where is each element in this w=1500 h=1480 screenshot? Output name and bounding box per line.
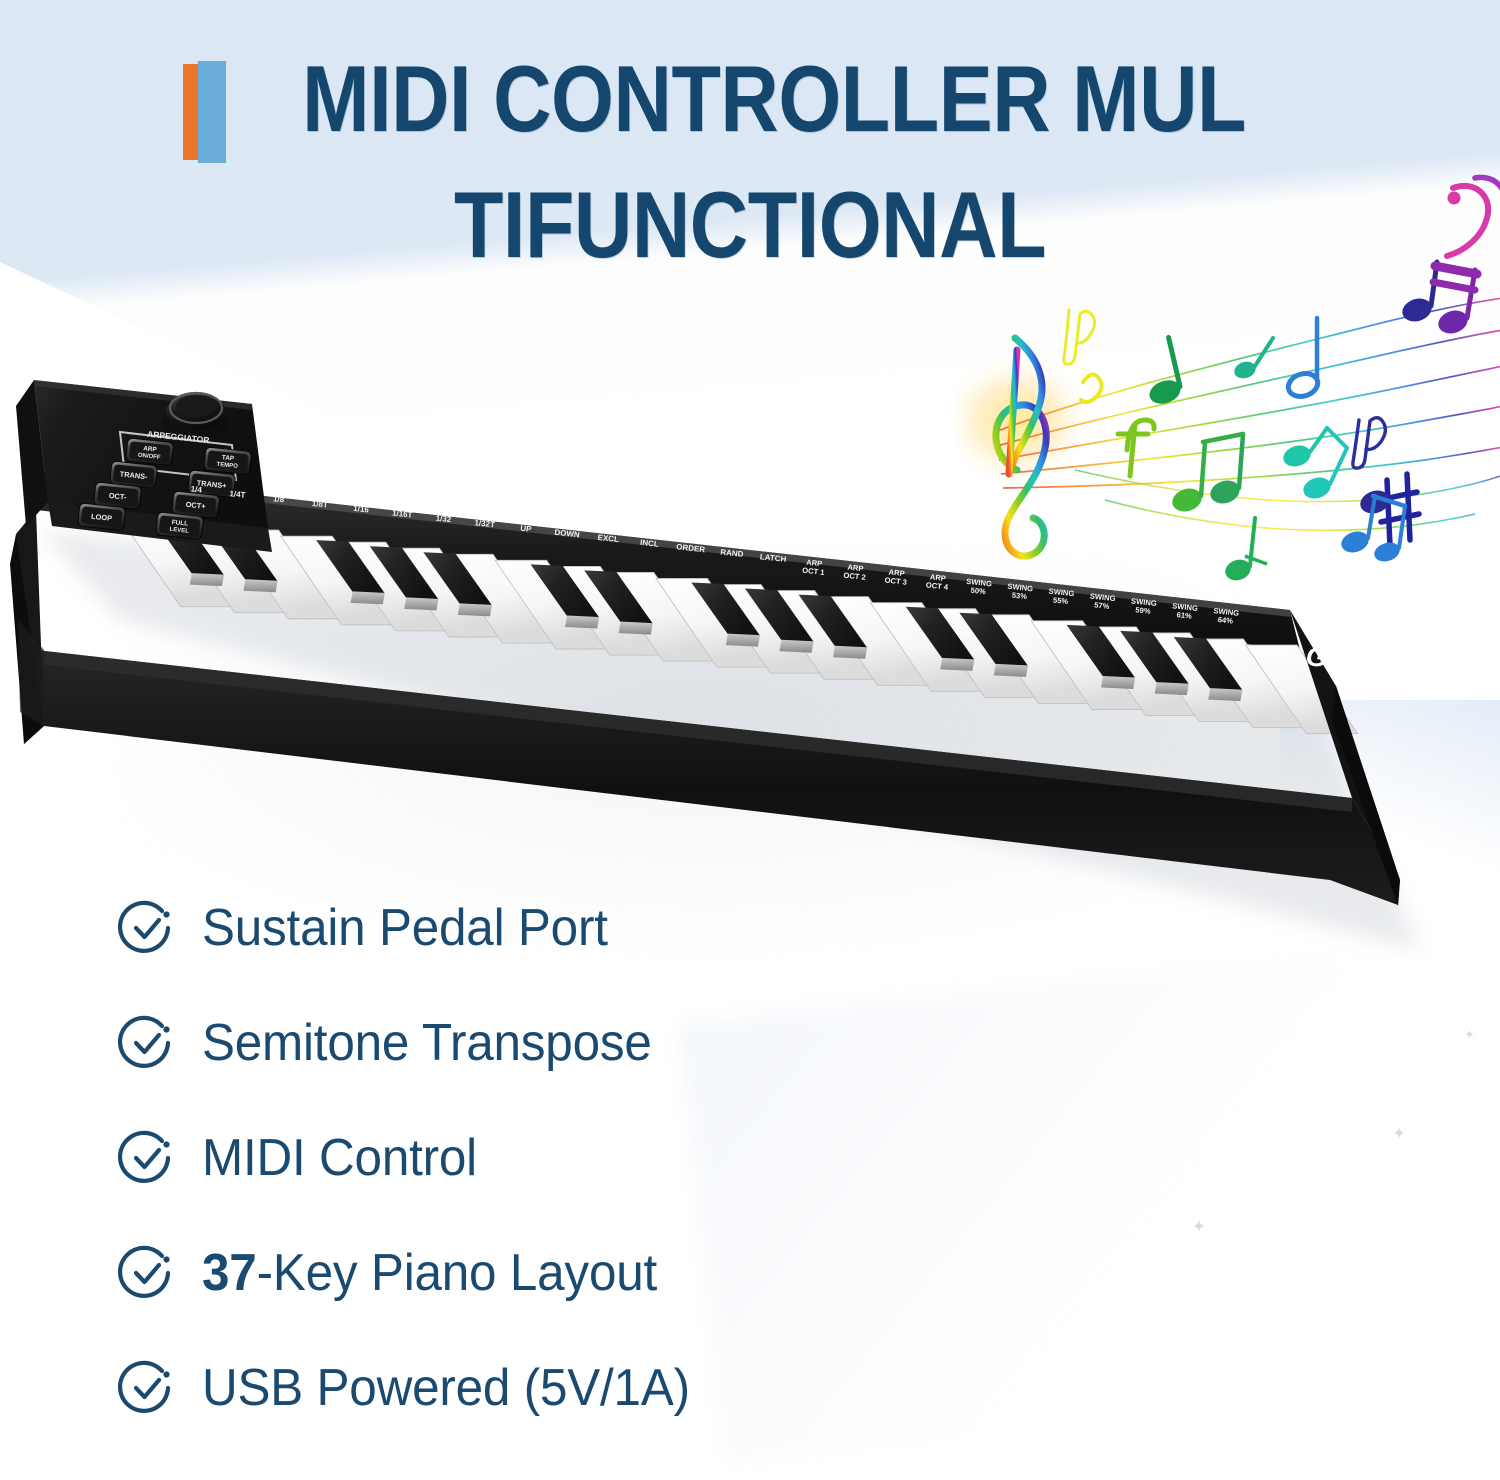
key-legend: 1/8 — [273, 494, 286, 504]
svg-text:TAP: TAP — [221, 454, 235, 462]
check-circle-icon — [118, 899, 176, 957]
svg-text:57%: 57% — [1094, 600, 1110, 611]
svg-text:1/8T: 1/8T — [311, 499, 328, 510]
title-line-1: MIDI CONTROLLER MUL — [105, 52, 1395, 146]
panel-button[interactable]: ARPON/OFF — [126, 438, 174, 466]
svg-text:64%: 64% — [1217, 615, 1233, 626]
svg-text:61%: 61% — [1176, 610, 1192, 621]
key-legend: UP — [520, 524, 533, 534]
panel-button[interactable]: FULLLEVEL — [156, 512, 204, 540]
feature-label: Sustain Pedal Port — [202, 898, 608, 958]
check-circle-icon — [118, 1359, 176, 1417]
feature-label: USB Powered (5V/1A) — [202, 1358, 690, 1418]
sparkle-icon: ✦ — [1192, 1218, 1206, 1235]
sparkle-icon: ✦ — [1392, 1125, 1406, 1142]
feature-item: USB Powered (5V/1A) — [118, 1330, 1018, 1445]
feature-label-bold: 37 — [202, 1244, 257, 1302]
feature-item: Sustain Pedal Port — [118, 870, 1018, 985]
svg-text:1/32: 1/32 — [435, 514, 452, 525]
control-panel: ARPEGGIATOR ARPON/OFFTAPTEMPOTRANS-TRANS… — [16, 380, 272, 552]
feature-label-rest: -Key Piano Layout — [257, 1244, 657, 1302]
svg-text:1/4: 1/4 — [190, 484, 203, 494]
key-legend: 1/8T — [311, 499, 328, 510]
feature-label: Semitone Transpose — [202, 1013, 652, 1073]
svg-text:1/8: 1/8 — [273, 494, 286, 504]
midi-keyboard-product: ARPEGGIATOR ARPON/OFFTAPTEMPOTRANS-TRANS… — [0, 320, 1500, 960]
feature-item: 37-Key Piano Layout — [118, 1215, 1018, 1330]
svg-text:OCT-: OCT- — [108, 491, 127, 502]
feature-item: MIDI Control — [118, 1100, 1018, 1215]
svg-text:UP: UP — [520, 524, 533, 534]
svg-text:1/16: 1/16 — [353, 504, 370, 515]
key-legend: 1/16 — [353, 504, 370, 515]
check-circle-icon — [118, 1129, 176, 1187]
feature-list: Sustain Pedal Port Semitone Transpose — [118, 870, 1018, 1445]
check-circle-icon — [118, 1244, 176, 1302]
feature-label: 37-Key Piano Layout — [202, 1243, 657, 1303]
feature-label: MIDI Control — [202, 1128, 477, 1188]
key-legend: 1/4T — [229, 489, 246, 500]
svg-text:53%: 53% — [1011, 591, 1027, 602]
key-legend: 1/4 — [190, 484, 203, 494]
svg-text:1/4T: 1/4T — [229, 489, 246, 500]
panel-button[interactable]: TAPTEMPO — [204, 447, 252, 475]
svg-text:55%: 55% — [1053, 595, 1069, 606]
panel-button[interactable]: LOOP — [78, 503, 126, 531]
feature-item: Semitone Transpose — [118, 985, 1018, 1100]
svg-text:50%: 50% — [970, 586, 986, 597]
check-circle-icon — [118, 1014, 176, 1072]
svg-text:59%: 59% — [1135, 605, 1151, 616]
sparkle-icon: ✦ — [1464, 1028, 1475, 1041]
svg-text:ARP: ARP — [143, 445, 158, 453]
key-legend: 1/32 — [435, 514, 452, 525]
